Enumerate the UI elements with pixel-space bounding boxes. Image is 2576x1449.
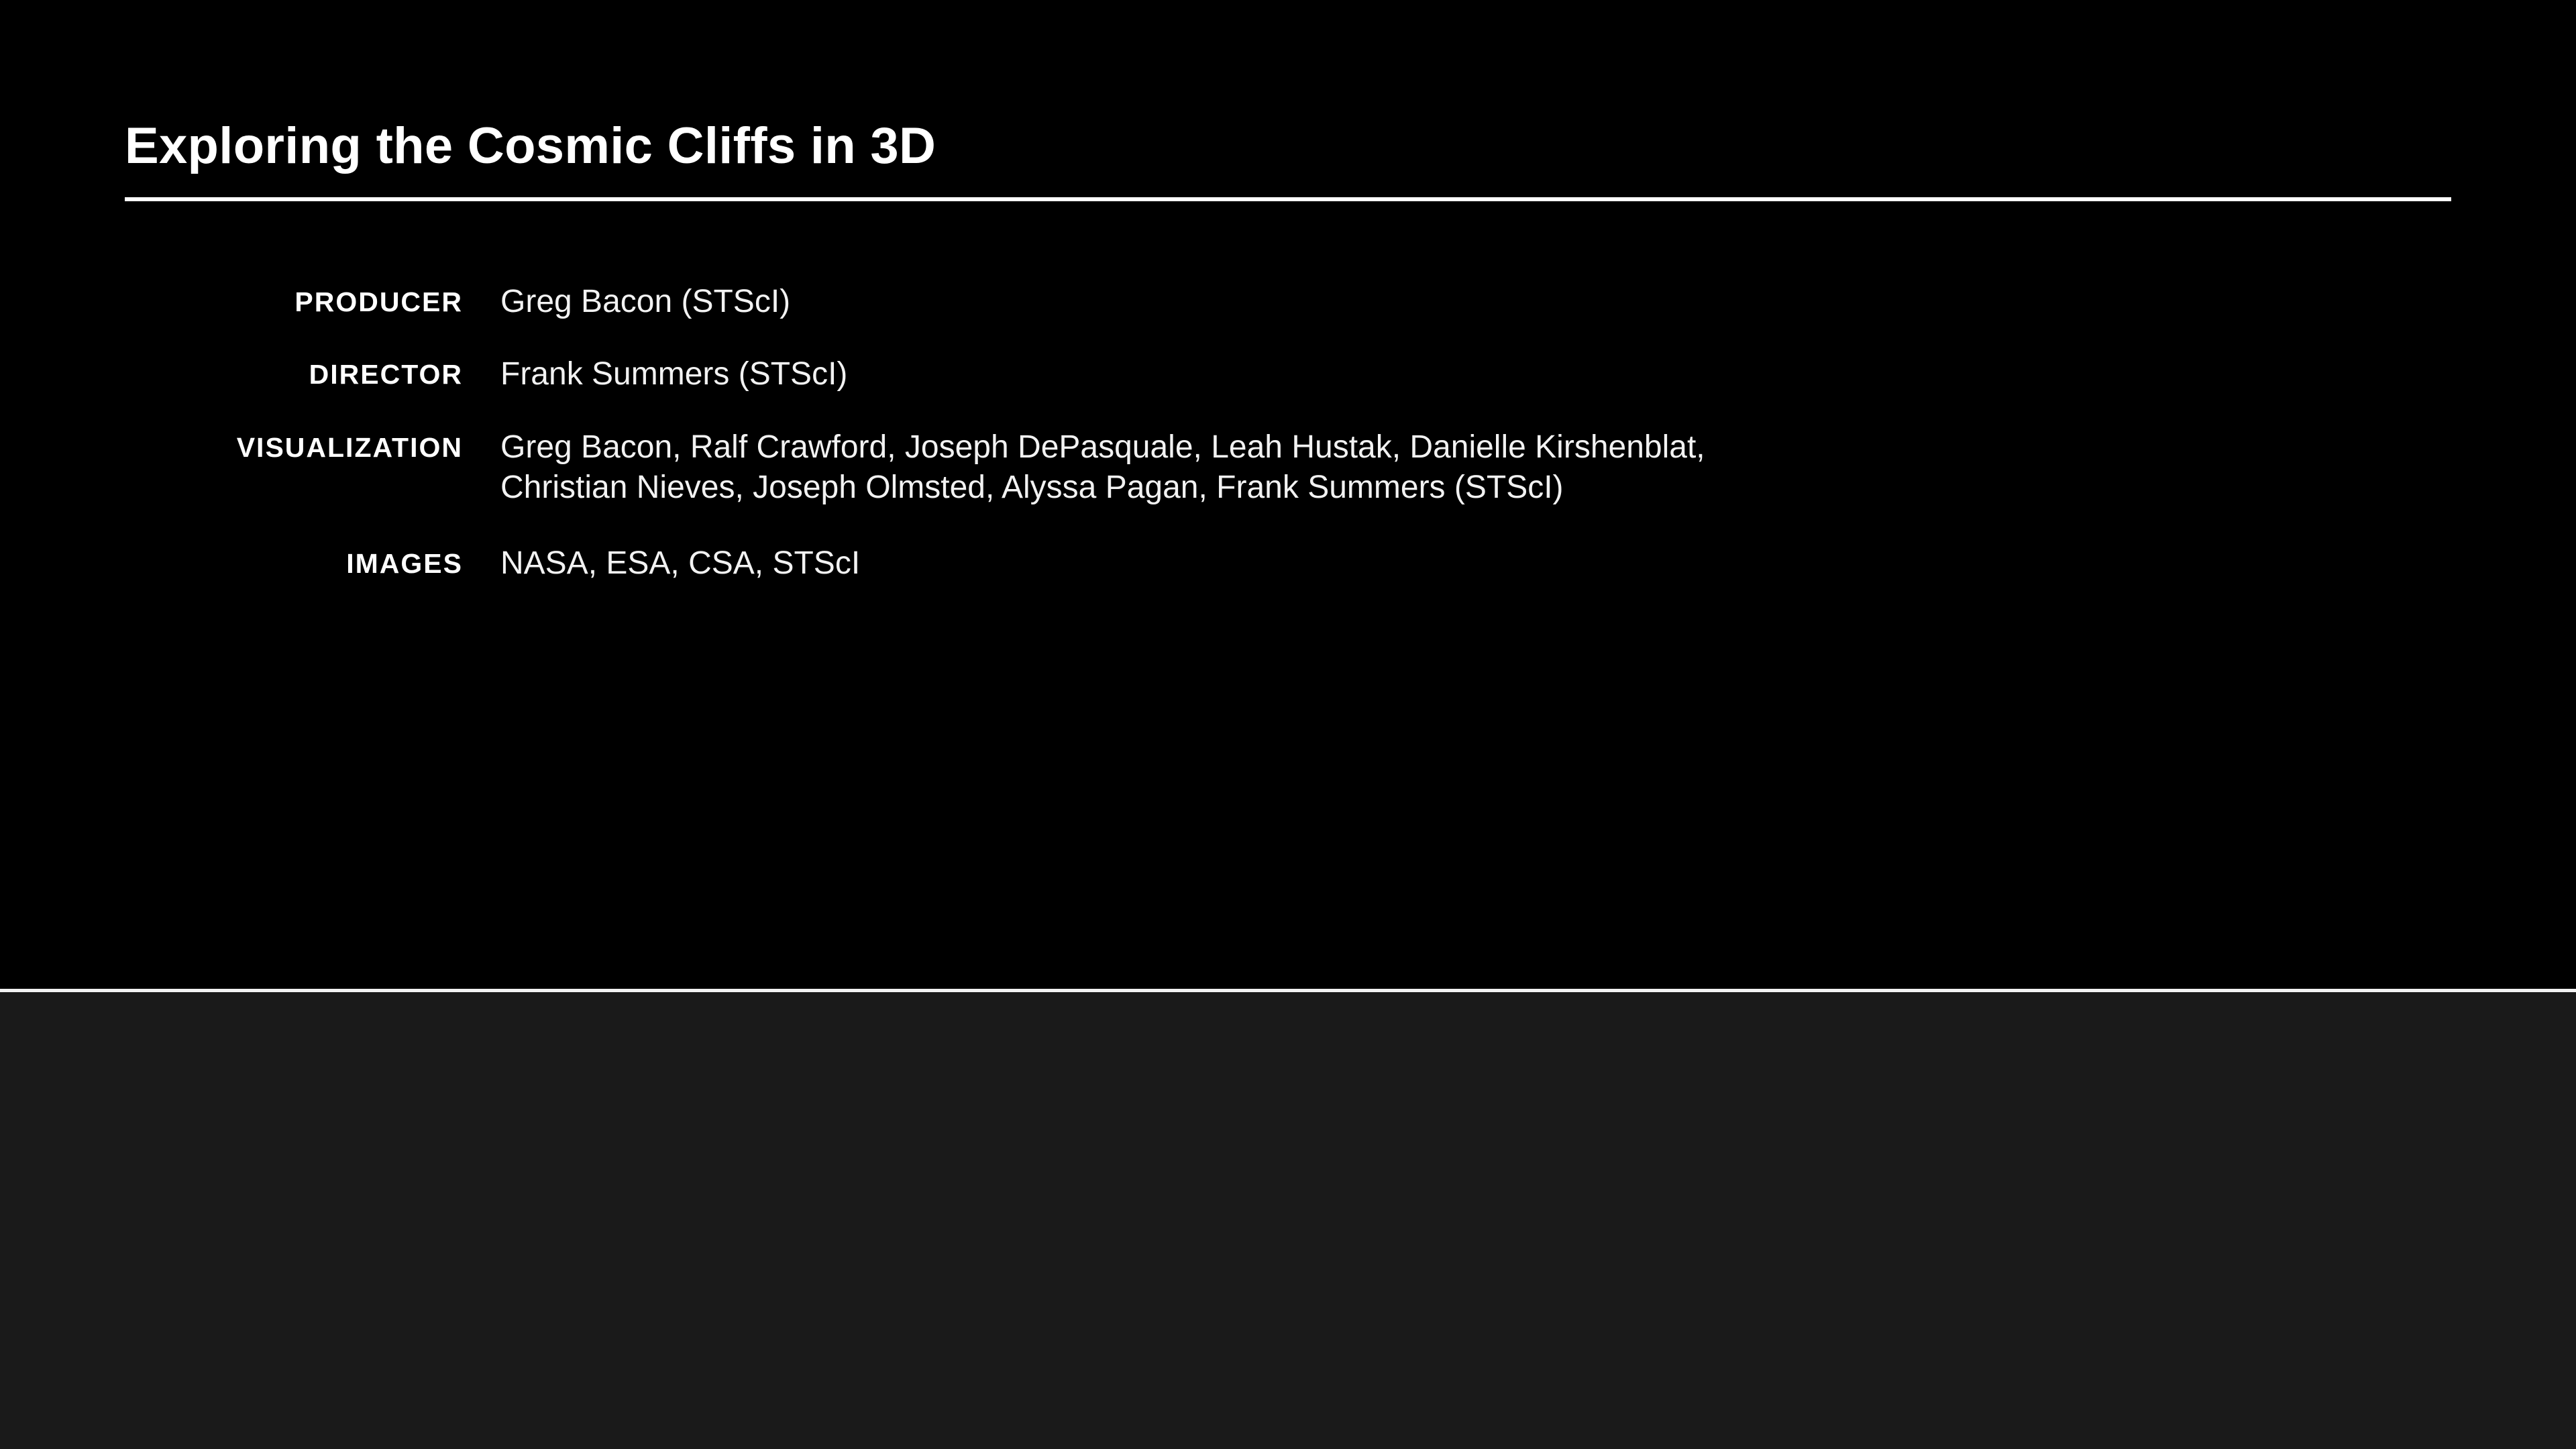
credit-value-images: NASA, ESA, CSA, STScI bbox=[500, 543, 860, 584]
footer-bar: NASA’S UNIVERSE OF LEARNING Based upon w… bbox=[0, 992, 2576, 1449]
credit-value-visualization: Greg Bacon, Ralf Crawford, Joseph DePasq… bbox=[500, 427, 1705, 508]
credit-label-images: IMAGES bbox=[125, 543, 463, 580]
credit-value-producer: Greg Bacon (STScI) bbox=[500, 282, 790, 322]
credit-row: DIRECTOR Frank Summers (STScI) bbox=[125, 354, 2406, 394]
credit-row: VISUALIZATION Greg Bacon, Ralf Crawford,… bbox=[125, 427, 2406, 508]
credits-slide: Exploring the Cosmic Cliffs in 3D PRODUC… bbox=[0, 0, 2576, 1449]
credit-label-visualization: VISUALIZATION bbox=[125, 427, 463, 464]
title-divider bbox=[125, 197, 2451, 201]
credit-row: IMAGES NASA, ESA, CSA, STScI bbox=[125, 543, 2406, 584]
credits-list: PRODUCER Greg Bacon (STScI) DIRECTOR Fra… bbox=[125, 282, 2406, 616]
credit-label-director: DIRECTOR bbox=[125, 354, 463, 390]
page-title: Exploring the Cosmic Cliffs in 3D bbox=[125, 121, 2451, 172]
title-block: Exploring the Cosmic Cliffs in 3D bbox=[125, 121, 2451, 201]
credit-row: PRODUCER Greg Bacon (STScI) bbox=[125, 282, 2406, 322]
credit-label-producer: PRODUCER bbox=[125, 282, 463, 318]
credit-value-director: Frank Summers (STScI) bbox=[500, 354, 847, 394]
